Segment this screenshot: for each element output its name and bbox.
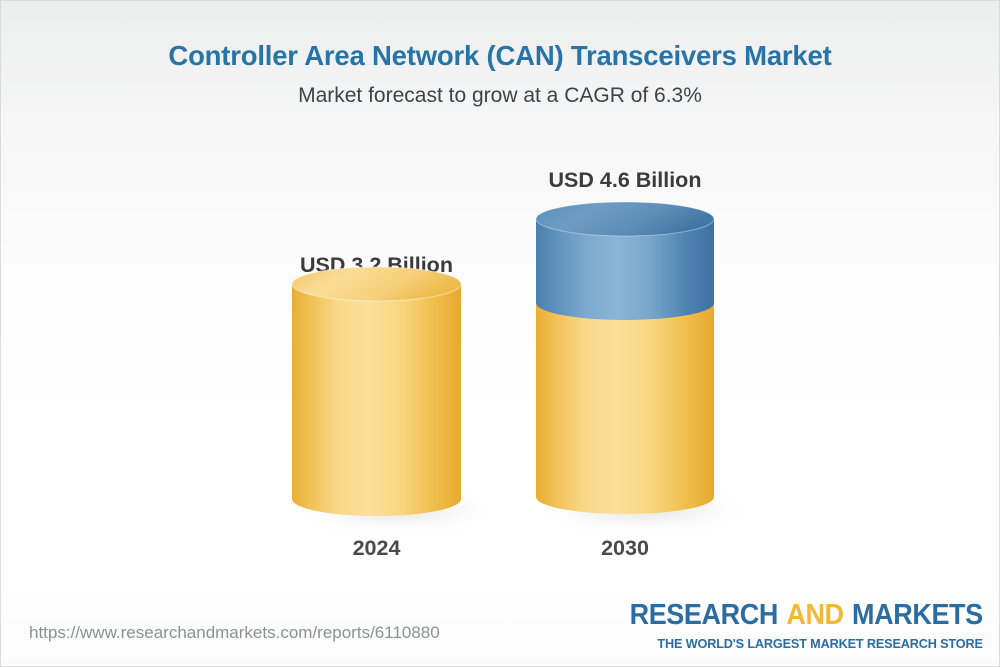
logo-tagline: THE WORLD'S LARGEST MARKET RESEARCH STOR… bbox=[618, 637, 983, 650]
category-label-2024: 2024 bbox=[292, 538, 461, 560]
plot-area: USD 3.2 Billion bbox=[1, 1, 1000, 667]
report-url[interactable]: https://www.researchandmarkets.com/repor… bbox=[29, 623, 440, 643]
brand-logo[interactable]: RESEARCHANDMARKETS THE WORLD'S LARGEST M… bbox=[603, 601, 983, 650]
logo-word-research: RESEARCH bbox=[630, 599, 778, 631]
logo-wordmark: RESEARCHANDMARKETS bbox=[630, 601, 983, 630]
category-label-2030: 2030 bbox=[536, 538, 714, 560]
bar-2024[interactable]: USD 3.2 Billion bbox=[292, 251, 461, 571]
bar-2030[interactable]: USD 4.6 Billion bbox=[536, 166, 714, 571]
cylinder-2024 bbox=[292, 251, 461, 526]
cylinder-2030 bbox=[536, 166, 714, 526]
logo-word-markets: MARKETS bbox=[852, 599, 983, 631]
chart-canvas: Controller Area Network (CAN) Transceive… bbox=[0, 0, 1000, 667]
logo-word-and: AND bbox=[787, 599, 844, 631]
